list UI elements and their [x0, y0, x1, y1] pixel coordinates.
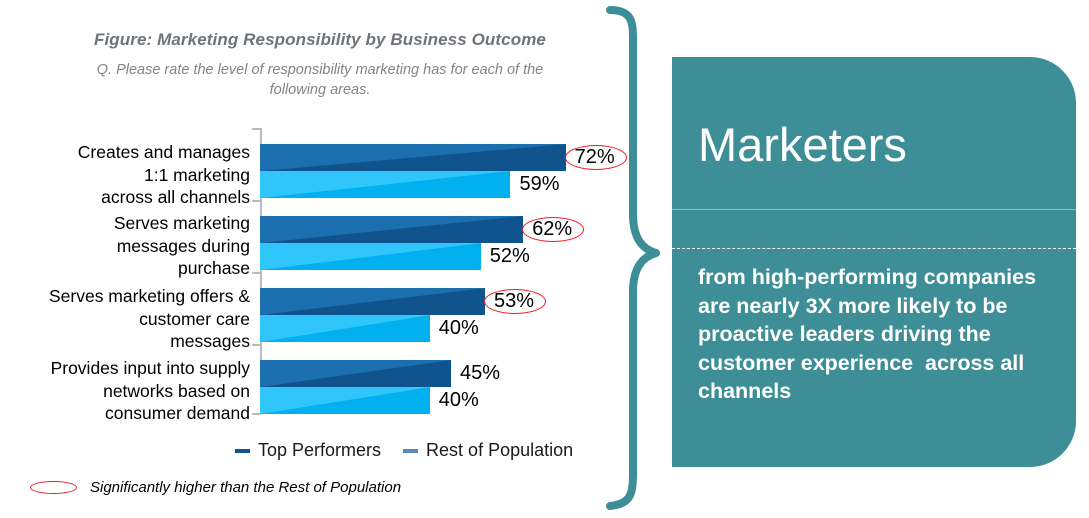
category-label-line: across all channels — [0, 186, 250, 209]
bar-value-label: 45% — [460, 360, 500, 387]
significance-footnote: Significantly higher than the Rest of Po… — [30, 479, 401, 496]
axis-tick — [252, 344, 261, 346]
bar-wedge — [260, 360, 451, 387]
category-label-1: Serves marketing messages during purchas… — [0, 212, 250, 280]
category-label-line: customer care — [0, 308, 250, 331]
footnote-text: Significantly higher than the Rest of Po… — [90, 479, 401, 496]
category-label-2: Serves marketing offers & customer care … — [0, 285, 250, 353]
bar-rest-of-population[interactable] — [260, 171, 510, 198]
bar-rest-of-population[interactable] — [260, 387, 430, 414]
curly-brace-icon — [598, 6, 668, 512]
legend-item-top-performers[interactable]: Top Performers — [235, 440, 381, 461]
bar-wedge — [260, 288, 485, 315]
category-label-line: messages during — [0, 235, 250, 258]
plot-area: Creates and manages 1:1 marketing across… — [0, 128, 640, 433]
category-label-line: Serves marketing offers & — [0, 285, 250, 308]
highlight-panel: Marketers from high-performing companies… — [672, 57, 1076, 467]
chart-block: Figure: Marketing Responsibility by Busi… — [0, 0, 640, 518]
bar-rest-of-population[interactable] — [260, 243, 481, 270]
bar-top-performers[interactable] — [260, 144, 566, 171]
category-label-3: Provides input into supply networks base… — [0, 357, 250, 425]
panel-title: Marketers — [698, 119, 907, 171]
bar-wedge — [260, 144, 566, 171]
bar-wedge — [260, 243, 481, 270]
axis-tick — [252, 200, 261, 202]
bar-value-label: 40% — [439, 315, 479, 342]
bar-top-performers[interactable] — [260, 216, 523, 243]
figure-title: Figure: Marketing Responsibility by Busi… — [20, 30, 620, 50]
bar-value-label: 40% — [439, 387, 479, 414]
bar-top-performers[interactable] — [260, 288, 485, 315]
bar-value-label: 52% — [490, 243, 530, 270]
category-label-line: purchase — [0, 257, 250, 280]
legend-item-rest-of-population[interactable]: Rest of Population — [403, 440, 573, 461]
category-label-0: Creates and manages 1:1 marketing across… — [0, 141, 250, 209]
legend-label: Top Performers — [258, 440, 381, 461]
panel-divider — [672, 209, 1076, 210]
bar-rest-of-population[interactable] — [260, 315, 430, 342]
axis-tick — [252, 272, 261, 274]
red-ellipse-icon — [30, 481, 77, 494]
bar-top-performers[interactable] — [260, 360, 451, 387]
axis-tick — [252, 128, 261, 130]
figure-question: Q. Please rate the level of responsibili… — [70, 60, 570, 100]
category-label-line: 1:1 marketing — [0, 164, 250, 187]
category-label-line: Provides input into supply — [0, 357, 250, 380]
bar-value-label: 59% — [519, 171, 559, 198]
legend-swatch-icon — [235, 449, 250, 453]
category-label-line: messages — [0, 330, 250, 353]
bar-value-label: 53% — [494, 288, 534, 315]
category-label-line: networks based on — [0, 380, 250, 403]
legend-swatch-icon — [403, 449, 418, 453]
chart-legend: Top Performers Rest of Population — [235, 440, 615, 461]
category-label-line: Creates and manages — [0, 141, 250, 164]
panel-body-text: from high-performing companies are nearl… — [698, 263, 1066, 406]
bar-wedge — [260, 387, 430, 414]
category-label-line: consumer demand — [0, 402, 250, 425]
panel-dashed-divider — [672, 248, 1076, 249]
category-label-line: Serves marketing — [0, 212, 250, 235]
bar-wedge — [260, 171, 510, 198]
legend-label: Rest of Population — [426, 440, 573, 461]
bar-wedge — [260, 315, 430, 342]
bar-wedge — [260, 216, 523, 243]
bar-value-label: 62% — [532, 216, 572, 243]
